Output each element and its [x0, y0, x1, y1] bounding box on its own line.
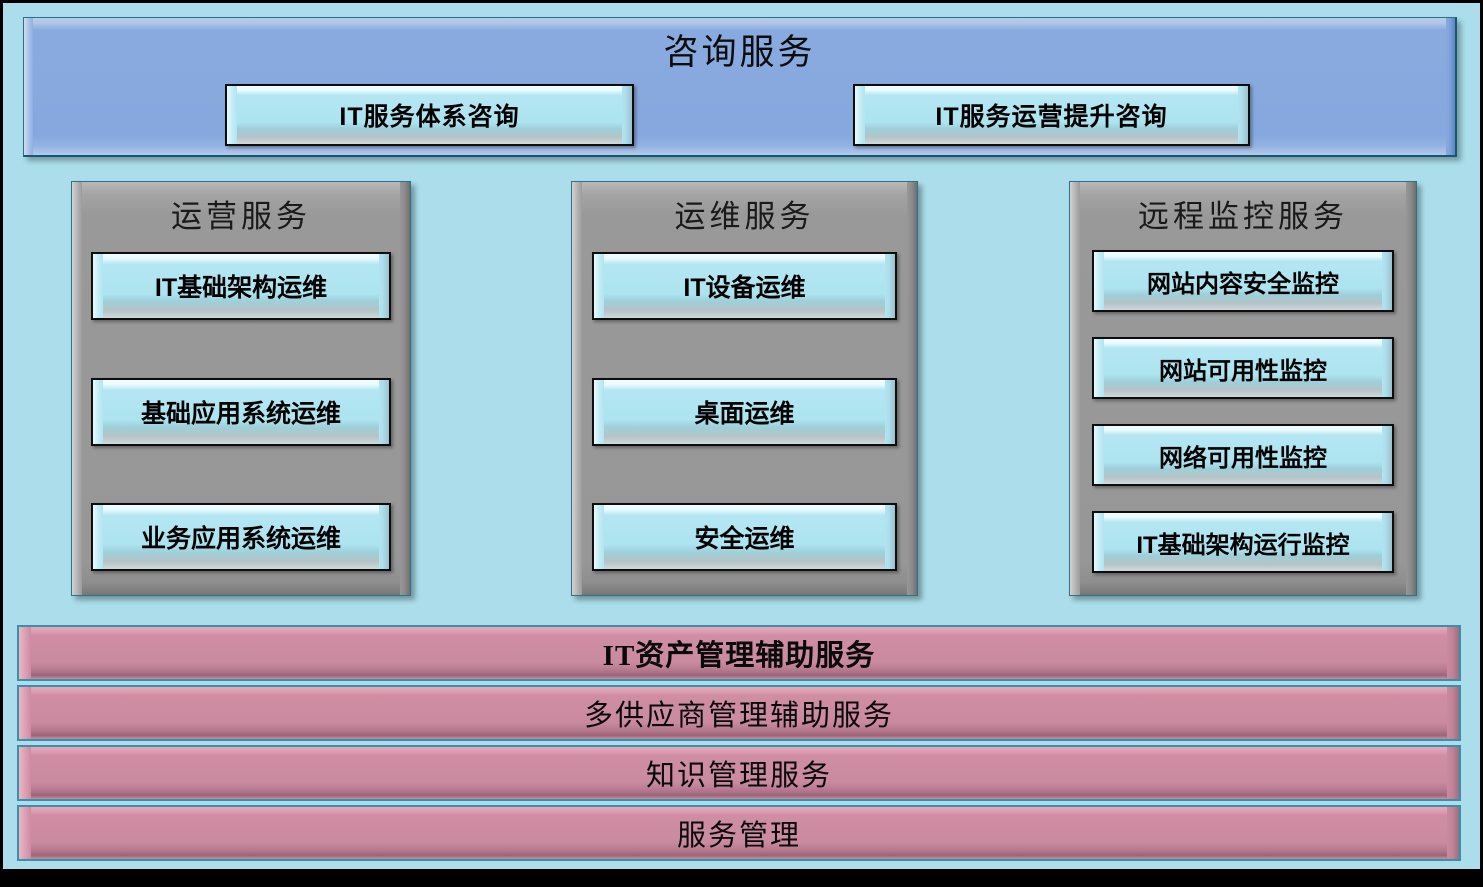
bar-label: 多供应商管理辅助服务 — [584, 692, 894, 734]
chip-left-bevel — [1094, 426, 1104, 484]
chip-right-bevel — [1382, 339, 1392, 397]
chip-right-bevel — [885, 380, 895, 444]
chip-right-bevel — [379, 505, 389, 569]
service-columns-row: 运营服务 IT基础架构运维 基础应用系统运维 — [3, 163, 1480, 608]
column-title: 运营服务 — [72, 198, 410, 236]
support-bar-knowledge-management[interactable]: 知识管理服务 — [17, 745, 1461, 801]
chip-right-bevel — [885, 254, 895, 318]
service-chip-desktop-ops[interactable]: 桌面运维 — [592, 378, 897, 446]
chip-left-bevel — [594, 254, 604, 318]
chip-right-bevel — [1382, 252, 1392, 310]
chip-right-bevel — [1382, 513, 1392, 571]
bar-label: 服务管理 — [677, 812, 801, 854]
chip-left-bevel — [93, 505, 103, 569]
chip-label: 基础应用系统运维 — [141, 394, 341, 430]
chip-left-bevel — [1094, 252, 1104, 310]
service-chip-it-equipment-ops[interactable]: IT设备运维 — [592, 252, 897, 320]
chip-label: IT基础架构运维 — [155, 268, 327, 304]
chip-right-bevel — [379, 380, 389, 444]
chip-right-bevel — [1238, 86, 1248, 144]
column-operation-service: 运营服务 IT基础架构运维 基础应用系统运维 — [71, 181, 411, 596]
chip-label: 桌面运维 — [694, 394, 794, 430]
chip-left-bevel — [1094, 513, 1104, 571]
chip-label: 网站可用性监控 — [1159, 351, 1327, 386]
chip-left-bevel — [594, 505, 604, 569]
support-bar-multi-vendor-management[interactable]: 多供应商管理辅助服务 — [17, 685, 1461, 741]
column-title: 运维服务 — [572, 198, 917, 236]
chip-label: IT服务运营提升咨询 — [935, 97, 1167, 133]
service-chip-basic-application-system-ops[interactable]: 基础应用系统运维 — [91, 378, 391, 446]
diagram-canvas: 咨询服务 IT服务体系咨询 IT服务运营提升咨询 运营服务 — [3, 3, 1480, 869]
chip-right-bevel — [622, 86, 632, 144]
service-chip-it-infrastructure-runtime-monitoring[interactable]: IT基础架构运行监控 — [1092, 511, 1394, 573]
bar-label: 知识管理服务 — [646, 752, 832, 794]
column-items: IT设备运维 桌面运维 安全运维 — [572, 248, 917, 581]
chip-label: IT服务体系咨询 — [339, 97, 519, 133]
chip-right-bevel — [1382, 426, 1392, 484]
service-chip-website-content-security-monitoring[interactable]: 网站内容安全监控 — [1092, 250, 1394, 312]
service-chip-website-availability-monitoring[interactable]: 网站可用性监控 — [1092, 337, 1394, 399]
bar-label: IT资产管理辅助服务 — [603, 632, 876, 674]
chip-left-bevel — [227, 86, 237, 144]
chip-right-bevel — [379, 254, 389, 318]
it-service-architecture-diagram: 咨询服务 IT服务体系咨询 IT服务运营提升咨询 运营服务 — [0, 0, 1483, 887]
column-items: IT基础架构运维 基础应用系统运维 业务应用系统运维 — [72, 248, 410, 581]
consulting-chip-it-service-operation-improvement[interactable]: IT服务运营提升咨询 — [853, 84, 1250, 146]
consulting-chip-it-service-system[interactable]: IT服务体系咨询 — [225, 84, 634, 146]
banner-title: 咨询服务 — [24, 32, 1455, 74]
column-title: 远程监控服务 — [1070, 198, 1416, 236]
chip-label: 安全运维 — [694, 519, 794, 555]
chip-left-bevel — [594, 380, 604, 444]
chip-label: 业务应用系统运维 — [141, 519, 341, 555]
chip-left-bevel — [855, 86, 865, 144]
service-chip-network-availability-monitoring[interactable]: 网络可用性监控 — [1092, 424, 1394, 486]
chip-left-bevel — [1094, 339, 1104, 397]
chip-label: 网络可用性监控 — [1159, 438, 1327, 473]
chip-left-bevel — [93, 254, 103, 318]
service-chip-business-application-system-ops[interactable]: 业务应用系统运维 — [91, 503, 391, 571]
column-maintenance-service: 运维服务 IT设备运维 桌面运维 安全运维 — [571, 181, 918, 596]
chip-label: IT设备运维 — [683, 268, 805, 304]
chip-label: 网站内容安全监控 — [1147, 264, 1339, 299]
column-items: 网站内容安全监控 网站可用性监控 网络可用性监控 — [1070, 248, 1416, 581]
support-service-bars: IT资产管理辅助服务 多供应商管理辅助服务 知识管理服务 服务管理 — [3, 621, 1480, 869]
chip-left-bevel — [93, 380, 103, 444]
service-chip-it-infrastructure-ops[interactable]: IT基础架构运维 — [91, 252, 391, 320]
column-remote-monitoring-service: 远程监控服务 网站内容安全监控 网站可用性监控 — [1069, 181, 1417, 596]
support-bar-service-management[interactable]: 服务管理 — [17, 805, 1461, 861]
chip-right-bevel — [885, 505, 895, 569]
service-chip-security-ops[interactable]: 安全运维 — [592, 503, 897, 571]
consulting-service-banner: 咨询服务 IT服务体系咨询 IT服务运营提升咨询 — [23, 17, 1457, 157]
support-bar-it-asset-management[interactable]: IT资产管理辅助服务 — [17, 625, 1461, 681]
chip-label: IT基础架构运行监控 — [1136, 525, 1349, 560]
